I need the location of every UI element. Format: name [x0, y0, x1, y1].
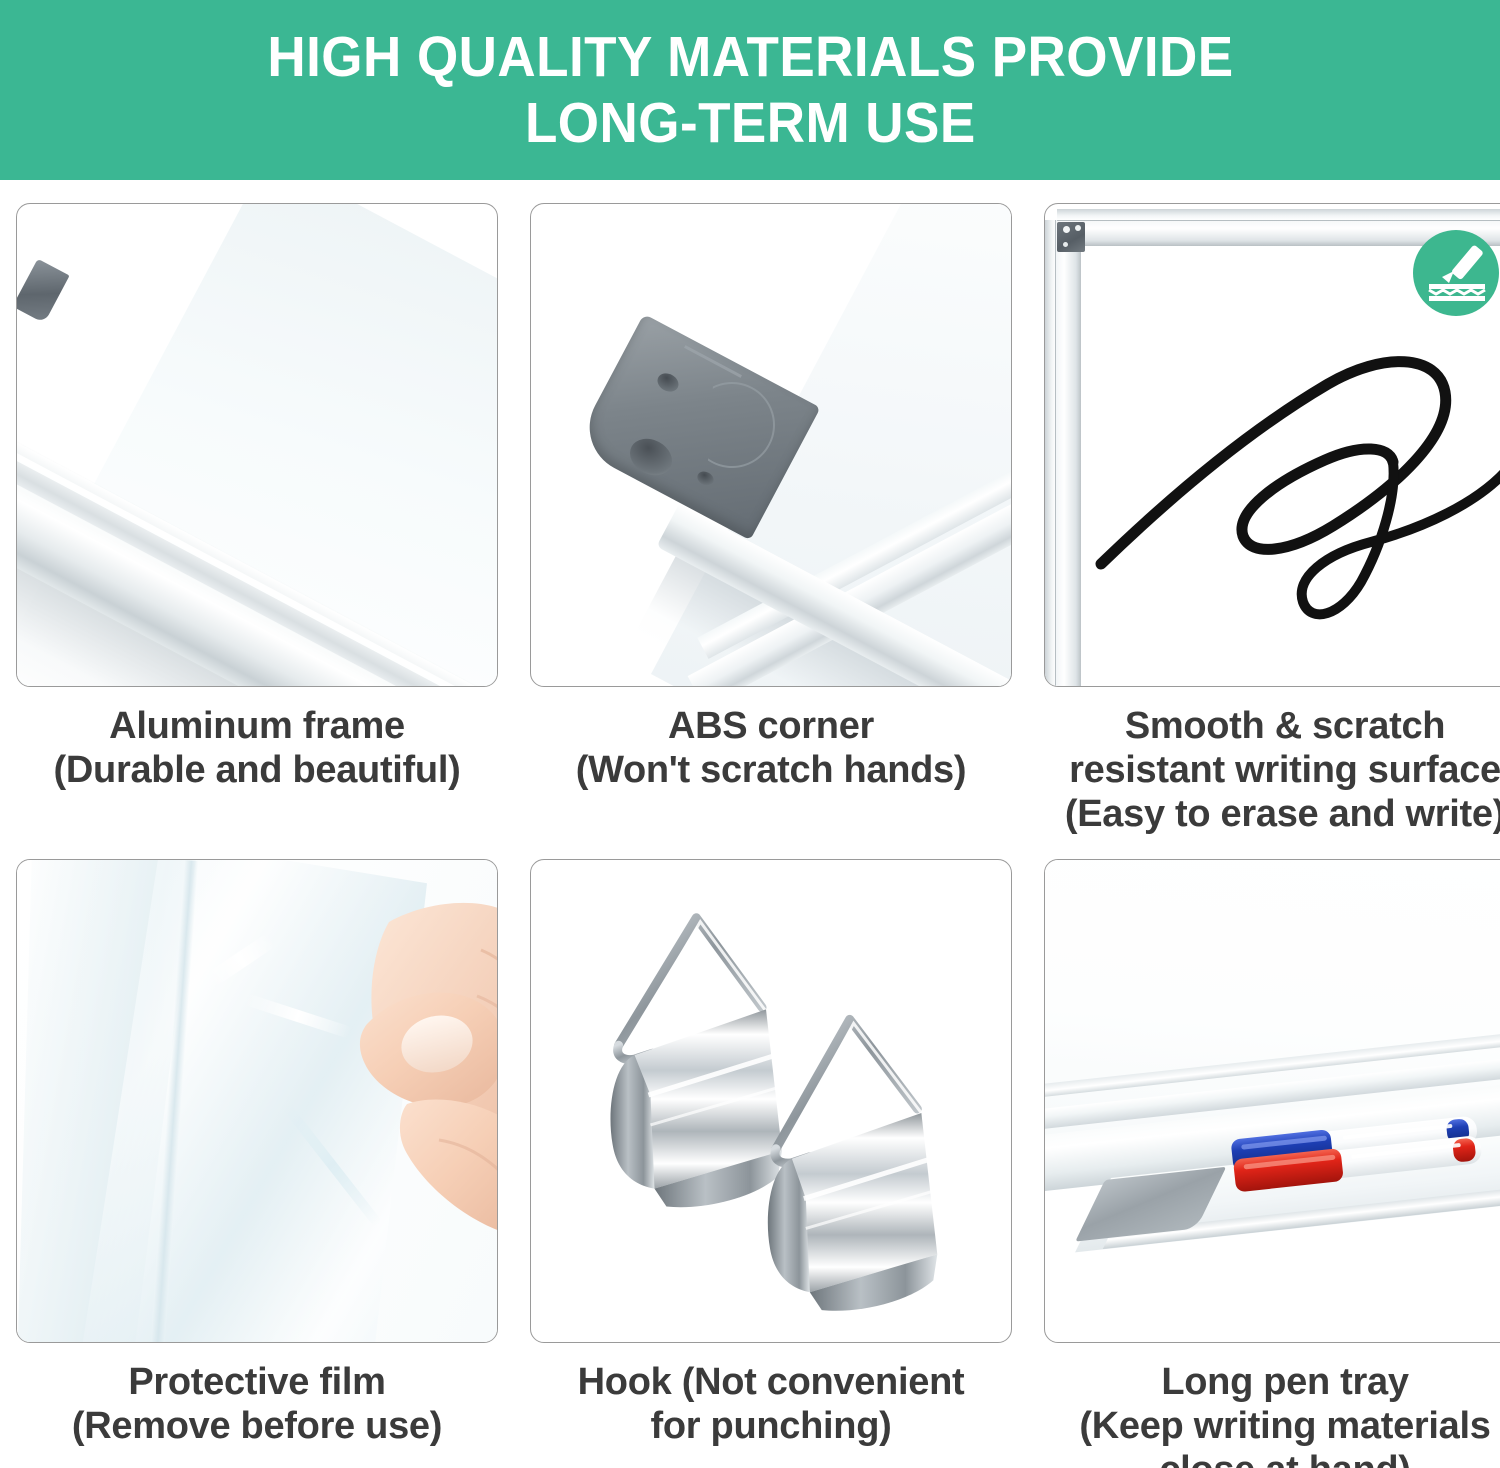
- feature-cell-writing-surface: Smooth & scratch resistant writing surfa…: [1028, 180, 1500, 836]
- caption-line-1: Long pen tray: [1042, 1360, 1500, 1404]
- feature-cell-protective-film: Protective film (Remove before use): [0, 836, 514, 1468]
- hand-peeling-film: [293, 878, 498, 1298]
- photo-hook: [530, 859, 1012, 1343]
- header-banner: HIGH QUALITY MATERIALS PROVIDE LONG-TERM…: [0, 0, 1500, 180]
- aluminum-frame-left: [1055, 220, 1081, 687]
- feature-cell-pen-tray: Long pen tray (Keep writing materials cl…: [1028, 836, 1500, 1468]
- marker-on-surface-icon: [1413, 230, 1499, 316]
- caption-line-1: Protective film: [14, 1360, 500, 1404]
- feature-cell-aluminum-frame: Aluminum frame (Durable and beautiful): [0, 180, 514, 836]
- caption-line-1: Aluminum frame: [14, 704, 500, 748]
- dry-erase-markers: [1045, 860, 1500, 1343]
- caption-pen-tray: Long pen tray (Keep writing materials cl…: [1042, 1360, 1500, 1468]
- photo-aluminum-frame: [16, 203, 498, 687]
- caption-line-2: (Won't scratch hands): [528, 748, 1014, 792]
- smooth-surface-badge: [1413, 230, 1499, 316]
- caption-line-3: (Easy to erase and write): [1042, 792, 1500, 836]
- feature-grid: Aluminum frame (Durable and beautiful) A…: [0, 180, 1500, 1468]
- caption-line-1: Smooth & scratch: [1042, 704, 1500, 748]
- caption-line-3: close at hand): [1042, 1448, 1500, 1468]
- caption-writing-surface: Smooth & scratch resistant writing surfa…: [1042, 704, 1500, 836]
- corner-bracket-hole-2: [1075, 225, 1081, 231]
- caption-hook: Hook (Not convenient for punching): [528, 1360, 1014, 1448]
- caption-line-2: (Keep writing materials: [1042, 1404, 1500, 1448]
- corner-bracket-hole-1: [1063, 226, 1070, 233]
- metal-hooks-illustration: [531, 860, 1011, 1342]
- marker-signature-scribble: [1093, 314, 1500, 644]
- caption-abs-corner: ABS corner (Won't scratch hands): [528, 704, 1014, 792]
- hook-item-2: [768, 1019, 937, 1310]
- photo-abs-corner: [530, 203, 1012, 687]
- infographic-page: HIGH QUALITY MATERIALS PROVIDE LONG-TERM…: [0, 0, 1500, 1468]
- header-title-line-1: HIGH QUALITY MATERIALS PROVIDE: [267, 24, 1233, 90]
- header-title-line-2: LONG-TERM USE: [525, 90, 976, 156]
- hook-item-1: [610, 918, 781, 1207]
- feature-cell-hook: Hook (Not convenient for punching): [514, 836, 1028, 1468]
- photo-writing-surface: [1044, 203, 1500, 687]
- caption-line-1: ABS corner: [528, 704, 1014, 748]
- photo-protective-film: [16, 859, 498, 1343]
- caption-line-1: Hook (Not convenient: [528, 1360, 1014, 1404]
- caption-line-2: resistant writing surface: [1042, 748, 1500, 792]
- aluminum-frame-top-thin: [1057, 209, 1500, 220]
- caption-aluminum-frame: Aluminum frame (Durable and beautiful): [14, 704, 500, 792]
- caption-protective-film: Protective film (Remove before use): [14, 1360, 500, 1448]
- photo-pen-tray: [1044, 859, 1500, 1343]
- abs-corner-tip: [16, 259, 70, 324]
- feature-cell-abs-corner: ABS corner (Won't scratch hands): [514, 180, 1028, 836]
- corner-bracket-hole-3: [1063, 242, 1068, 247]
- caption-line-2: (Remove before use): [14, 1404, 500, 1448]
- caption-line-2: for punching): [528, 1404, 1014, 1448]
- caption-line-2: (Durable and beautiful): [14, 748, 500, 792]
